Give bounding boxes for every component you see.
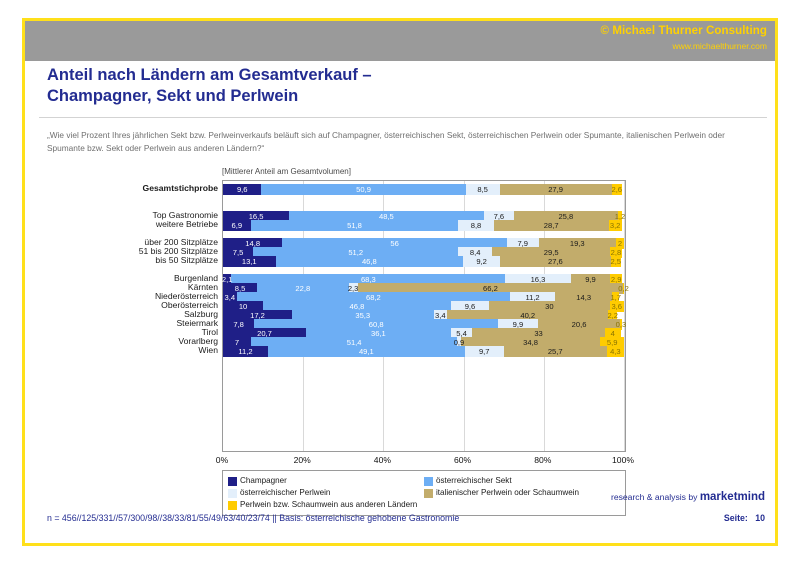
bar-value-label: 5,9: [607, 338, 618, 347]
legend-label: Perlwein bzw. Schaumwein aus anderen Län…: [240, 499, 417, 511]
bar-value-label: 51,2: [348, 248, 363, 257]
legend-swatch-icon: [424, 477, 433, 486]
bar-value-label: 7,8: [233, 320, 244, 329]
table-row: 6,951,88,828,73,2: [223, 220, 624, 231]
bar-value-label: 28,7: [544, 221, 559, 230]
bar-value-label: 2,5: [610, 257, 621, 266]
bar-value-label: 56: [390, 239, 398, 248]
question-text: „Wie viel Prozent Ihres jährlichen Sekt …: [47, 129, 753, 155]
chart-container: [Mittlerer Anteil am Gesamtvolumen] 9,65…: [39, 167, 767, 472]
bar-value-label: 30: [545, 302, 553, 311]
bar-value-label: 7,9: [517, 239, 528, 248]
bar-segment: 49,1: [268, 346, 465, 357]
bar-segment: 0,9: [457, 337, 461, 348]
bar-value-label: 2,9: [611, 275, 622, 284]
bar-segment: 2,5: [611, 256, 621, 267]
bar-value-label: 0,3: [616, 320, 627, 329]
bar-value-label: 16,5: [249, 212, 264, 221]
bar-value-label: 14,8: [245, 239, 260, 248]
legend-label: italienischer Perlwein oder Schaumwein: [436, 487, 579, 499]
legend-label: österreichischer Perlwein: [240, 487, 330, 499]
bar-value-label: 2,2: [607, 311, 618, 320]
bar-value-label: 49,1: [359, 347, 374, 356]
table-row: 11,249,19,725,74,3: [223, 346, 624, 357]
bar-value-label: 35,3: [355, 311, 370, 320]
bar-value-label: 48,5: [379, 212, 394, 221]
legend-item[interactable]: Champagner: [228, 475, 424, 487]
bar-value-label: 8,5: [235, 284, 246, 293]
credit-brand: marketmind: [700, 491, 765, 503]
legend-swatch-icon: [424, 489, 433, 498]
bar-segment: 27,9: [500, 184, 612, 195]
legend-row: Champagnerösterreichischer Sekt: [228, 475, 620, 487]
bar-value-label: 46,8: [350, 302, 365, 311]
bar-segment: 8,5: [466, 184, 500, 195]
legend-item[interactable]: italienischer Perlwein oder Schaumwein: [424, 487, 620, 499]
header-bar: © Michael Thurner Consulting www.michael…: [25, 21, 775, 61]
bar-value-label: 50,9: [356, 185, 371, 194]
bar-value-label: 9,7: [479, 347, 490, 356]
x-axis-tick: 40%: [374, 455, 391, 465]
bar-value-label: 40,2: [520, 311, 535, 320]
plot-area: 9,650,98,527,92,616,548,57,625,81,26,951…: [222, 180, 626, 452]
bar-value-label: 27,9: [548, 185, 563, 194]
bar-value-label: 1,2: [615, 212, 626, 221]
bar-value-label: 68,3: [361, 275, 376, 284]
bar-value-label: 10: [239, 302, 247, 311]
bar-value-label: 7,5: [233, 248, 244, 257]
bar-segment: 27,6: [500, 256, 611, 267]
bar-value-label: 60,8: [369, 320, 384, 329]
legend-row: österreichischer Perlweinitalienischer P…: [228, 487, 620, 499]
bar-segment: 3,2: [609, 220, 622, 231]
bar-value-label: 2: [618, 239, 622, 248]
bar-value-label: 2,1: [222, 275, 233, 284]
category-label: bis 50 Sitzplätze: [155, 255, 218, 266]
bar-value-label: 0,9: [454, 338, 465, 347]
table-row: 13,146,89,227,62,5: [223, 256, 624, 267]
page-title: Anteil nach Ländern am Gesamtverkauf – C…: [47, 65, 747, 107]
bar-value-label: 0,2: [618, 284, 629, 293]
page-label: Seite:: [724, 513, 748, 523]
legend-swatch-icon: [228, 501, 237, 510]
page-number: Seite: 10: [724, 513, 765, 523]
bar-value-label: 2,3: [348, 284, 359, 293]
bar-value-label: 4,3: [610, 347, 621, 356]
page-value: 10: [755, 513, 765, 523]
bar-value-label: 9,6: [465, 302, 476, 311]
legend-swatch-icon: [228, 477, 237, 486]
legend-row: Perlwein bzw. Schaumwein aus anderen Län…: [228, 499, 620, 511]
bar-value-label: 9,2: [476, 257, 487, 266]
bar-value-label: 13,1: [242, 257, 257, 266]
bar-value-label: 8,4: [470, 248, 481, 257]
title-divider: [39, 117, 767, 118]
bar-value-label: 9,9: [585, 275, 596, 284]
legend-label: Champagner: [240, 475, 287, 487]
bar-segment: 6,9: [223, 220, 251, 231]
bar-value-label: 7,6: [494, 212, 505, 221]
bar-value-label: 11,2: [525, 293, 539, 302]
bar-segment: 0,3: [620, 319, 621, 330]
bar-value-label: 20,6: [572, 320, 587, 329]
legend-item[interactable]: Perlwein bzw. Schaumwein aus anderen Län…: [228, 499, 424, 511]
bar-value-label: 11,2: [238, 347, 252, 356]
slide: © Michael Thurner Consulting www.michael…: [22, 18, 778, 546]
bar-value-label: 8,5: [477, 185, 488, 194]
units-note: [Mittlerer Anteil am Gesamtvolumen]: [222, 167, 351, 176]
legend-label: österreichischer Sekt: [436, 475, 512, 487]
bar-value-label: 36,1: [371, 329, 386, 338]
bar-value-label: 22,8: [295, 284, 310, 293]
website-url: www.michaelthurner.com: [673, 41, 767, 51]
bar-value-label: 51,4: [347, 338, 362, 347]
bar-segment: 51,8: [251, 220, 459, 231]
gridline: [624, 181, 625, 451]
bar-value-label: 19,3: [570, 239, 585, 248]
bar-value-label: 17,2: [250, 311, 265, 320]
bar-value-label: 2,8: [611, 248, 622, 257]
bar-value-label: 9,6: [237, 185, 248, 194]
x-axis-tick: 100%: [612, 455, 634, 465]
bar-value-label: 2,6: [611, 185, 622, 194]
x-axis-tick: 60%: [454, 455, 471, 465]
bar-segment: 3,4: [223, 292, 237, 303]
research-credit: research & analysis by marketmind: [611, 491, 765, 503]
bar-value-label: 20,7: [257, 329, 272, 338]
bar-value-label: 3,4: [435, 311, 446, 320]
bar-segment: 9,6: [223, 184, 261, 195]
bar-value-label: 3,2: [610, 221, 621, 230]
bar-value-label: 3,4: [225, 293, 236, 302]
bar-value-label: 46,8: [362, 257, 377, 266]
bar-value-label: 34,8: [523, 338, 538, 347]
table-row: 9,650,98,527,92,6: [223, 184, 624, 195]
bar-value-label: 3,6: [611, 302, 622, 311]
bar-value-label: 8,8: [471, 221, 482, 230]
copyright-text: © Michael Thurner Consulting: [600, 25, 767, 37]
bar-segment: 9,7: [465, 346, 504, 357]
bar-segment: 11,2: [223, 346, 268, 357]
bar-value-label: 29,5: [544, 248, 559, 257]
credit-prefix: research & analysis by: [611, 492, 697, 502]
bar-value-label: 25,8: [558, 212, 573, 221]
bar-value-label: 9,9: [513, 320, 524, 329]
chart-legend: Champagnerösterreichischer Sektösterreic…: [222, 470, 626, 516]
bar-value-label: 16,3: [531, 275, 546, 284]
bar-segment: 9,2: [463, 256, 500, 267]
x-axis-tick: 0%: [216, 455, 228, 465]
bar-segment: 2,6: [612, 184, 622, 195]
bar-value-label: 1,7: [610, 293, 621, 302]
bar-value-label: 6,9: [232, 221, 243, 230]
bar-segment: 8,8: [458, 220, 493, 231]
bar-segment: 2,3: [349, 283, 358, 294]
x-axis-tick: 80%: [534, 455, 551, 465]
basis-note: n = 456//125/331//57/300/98//38/33/81/55…: [47, 513, 459, 523]
bar-value-label: 27,6: [548, 257, 563, 266]
bar-segment: 46,8: [276, 256, 464, 267]
category-label: Wien: [198, 345, 218, 356]
x-axis-tick: 20%: [294, 455, 311, 465]
bar-segment: 25,7: [504, 346, 607, 357]
bar-value-label: 68,2: [366, 293, 381, 302]
bar-value-label: 51,8: [347, 221, 362, 230]
legend-swatch-icon: [228, 489, 237, 498]
bar-value-label: 4: [611, 329, 615, 338]
category-label: weitere Betriebe: [156, 219, 218, 230]
bar-value-label: 33: [534, 329, 542, 338]
x-axis: 0%20%40%60%80%100%: [222, 455, 626, 469]
bar-segment: 3,4: [434, 310, 448, 321]
bar-segment: 28,7: [494, 220, 609, 231]
bar-value-label: 14,3: [576, 293, 591, 302]
bar-value-label: 25,7: [548, 347, 563, 356]
category-label: Gesamtstichprobe: [143, 183, 218, 194]
bar-value-label: 66,2: [483, 284, 498, 293]
bar-segment: 2,1: [223, 274, 231, 285]
bar-segment: 13,1: [223, 256, 276, 267]
bar-value-label: 7: [235, 338, 239, 347]
legend-item[interactable]: österreichischer Perlwein: [228, 487, 424, 499]
bar-segment: 50,9: [261, 184, 465, 195]
bar-value-label: 5,4: [456, 329, 467, 338]
bar-segment: 4,3: [607, 346, 624, 357]
bar-segment: 0,2: [623, 283, 624, 294]
legend-item[interactable]: österreichischer Sekt: [424, 475, 620, 487]
